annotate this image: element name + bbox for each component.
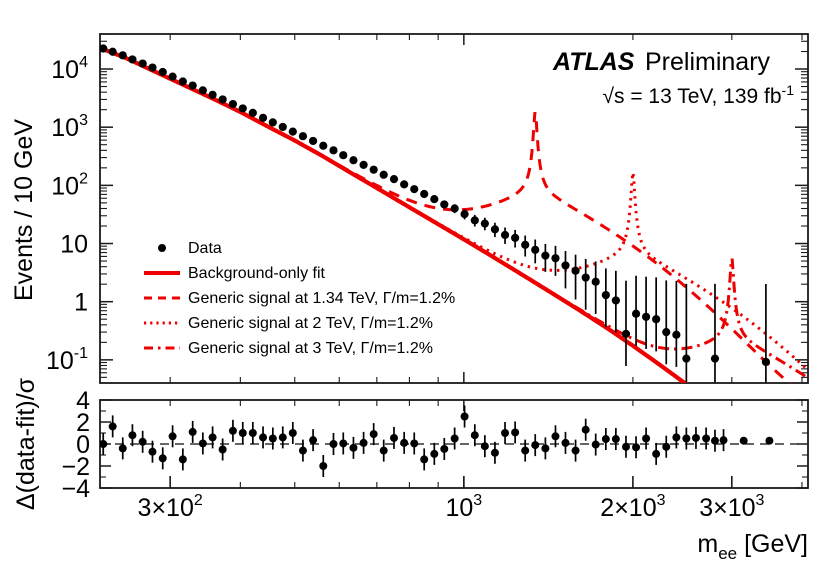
residual-point bbox=[390, 434, 398, 442]
residual-point bbox=[259, 433, 267, 441]
data-point bbox=[289, 127, 297, 135]
data-point bbox=[390, 175, 398, 183]
data-point bbox=[642, 313, 650, 321]
data-point bbox=[632, 310, 640, 318]
data-point bbox=[582, 273, 590, 281]
residual-point bbox=[209, 433, 217, 441]
data-point bbox=[571, 267, 579, 275]
data-point bbox=[672, 331, 680, 339]
residual-point bbox=[179, 455, 187, 463]
legend-item-3: Generic signal at 1.34 TeV, Γ/m=1.2% bbox=[144, 290, 455, 307]
residual-point bbox=[740, 437, 748, 445]
residual-point bbox=[109, 422, 117, 430]
residual-point bbox=[440, 445, 448, 453]
atlas-label: ATLAS bbox=[552, 48, 635, 76]
residual-point bbox=[319, 462, 327, 470]
residual-point bbox=[148, 448, 156, 456]
residual-point bbox=[169, 432, 177, 440]
residual-point bbox=[461, 413, 469, 421]
legend-label: Generic signal at 1.34 TeV, Γ/m=1.2% bbox=[188, 290, 455, 307]
data-point bbox=[561, 261, 569, 269]
data-point bbox=[309, 137, 317, 145]
residual-point bbox=[400, 439, 408, 447]
residual-point bbox=[119, 444, 127, 452]
data-point bbox=[531, 246, 539, 254]
residual-point bbox=[582, 426, 590, 434]
residual-point bbox=[531, 441, 539, 449]
residual-point bbox=[711, 437, 719, 445]
residual-point bbox=[139, 438, 147, 446]
residual-point bbox=[702, 435, 710, 443]
main-y-tick-labels: 10410310210110-1 bbox=[46, 54, 88, 375]
data-point bbox=[109, 48, 117, 56]
x-tick-label: 2×103 bbox=[600, 492, 665, 522]
data-point bbox=[269, 118, 277, 126]
residual-point bbox=[189, 428, 197, 436]
residual-point bbox=[682, 435, 690, 443]
residual-point bbox=[249, 429, 257, 437]
y-axis-title-main: Events / 10 GeV bbox=[10, 119, 38, 301]
residual-point bbox=[612, 435, 620, 443]
legend-marker-data bbox=[158, 244, 166, 252]
x-axis-title: mee [GeV] bbox=[697, 530, 808, 563]
data-point bbox=[370, 166, 378, 174]
legend-label: Generic signal at 2 TeV, Γ/m=1.2% bbox=[188, 315, 433, 332]
x-tick-labels: 3×1021032×1033×103 bbox=[138, 492, 765, 522]
residual-point bbox=[410, 439, 418, 447]
data-point bbox=[339, 151, 347, 159]
residuals-group bbox=[99, 406, 808, 478]
residual-point bbox=[360, 439, 368, 447]
residual-point bbox=[199, 439, 207, 447]
residual-point bbox=[380, 447, 388, 455]
data-point bbox=[662, 328, 670, 336]
residual-point bbox=[239, 429, 247, 437]
residual-point bbox=[309, 436, 317, 444]
data-point bbox=[349, 156, 357, 164]
data-point bbox=[319, 142, 327, 150]
ratio-x-major-ticks bbox=[170, 476, 732, 488]
data-point bbox=[471, 216, 479, 224]
residual-point bbox=[541, 444, 549, 452]
residual-point bbox=[521, 447, 529, 455]
data-point bbox=[99, 44, 107, 52]
legend-label: Data bbox=[188, 240, 222, 257]
data-point bbox=[612, 296, 620, 304]
residual-point bbox=[430, 450, 438, 458]
data-point bbox=[209, 91, 217, 99]
data-point bbox=[159, 68, 167, 76]
data-point bbox=[239, 104, 247, 112]
residual-point bbox=[642, 435, 650, 443]
residual-point bbox=[219, 446, 227, 454]
residual-point bbox=[339, 439, 347, 447]
y-axis-title-ratio: Δ(data-fit)/σ bbox=[12, 377, 40, 510]
data-point bbox=[430, 195, 438, 203]
legend-item-2: Background-only fit bbox=[144, 265, 326, 282]
data-point bbox=[279, 123, 287, 131]
data-point bbox=[652, 315, 660, 323]
residual-point bbox=[572, 447, 580, 455]
legend-item-4: Generic signal at 2 TeV, Γ/m=1.2% bbox=[144, 315, 433, 332]
y-tick-label: 1 bbox=[74, 289, 88, 317]
residual-point bbox=[672, 433, 680, 441]
residual-point bbox=[652, 450, 660, 458]
residual-point bbox=[329, 440, 337, 448]
data-point bbox=[219, 95, 227, 103]
data-point bbox=[139, 59, 147, 67]
residual-point bbox=[491, 449, 499, 457]
residual-point bbox=[692, 434, 700, 442]
residual-point bbox=[511, 428, 519, 436]
legend: DataBackground-only fitGeneric signal at… bbox=[144, 240, 455, 357]
legend-item-5: Generic signal at 3 TeV, Γ/m=1.2% bbox=[144, 340, 433, 357]
residual-point bbox=[551, 432, 559, 440]
residual-point bbox=[269, 435, 277, 443]
data-point bbox=[119, 51, 127, 59]
residual-point bbox=[481, 442, 489, 450]
data-point bbox=[541, 251, 549, 259]
data-point bbox=[299, 132, 307, 140]
data-point bbox=[410, 185, 418, 193]
residual-point bbox=[289, 429, 297, 437]
residual-point bbox=[349, 444, 357, 452]
legend-item-1: Data bbox=[158, 240, 222, 257]
data-point bbox=[762, 358, 770, 366]
y-tick-label: 103 bbox=[51, 112, 88, 142]
residual-point bbox=[622, 443, 630, 451]
residual-point bbox=[561, 439, 569, 447]
residual-point bbox=[159, 454, 167, 462]
residual-point bbox=[99, 440, 107, 448]
data-point bbox=[148, 63, 156, 71]
residual-point bbox=[765, 437, 773, 445]
data-point bbox=[521, 241, 529, 249]
data-point bbox=[491, 225, 499, 233]
data-point bbox=[451, 204, 459, 212]
data-point bbox=[622, 330, 630, 338]
residual-point bbox=[420, 455, 428, 463]
data-point bbox=[481, 220, 489, 228]
data-point bbox=[501, 231, 509, 239]
residual-point bbox=[602, 435, 610, 443]
data-point bbox=[440, 200, 448, 208]
y-tick-label: 10-1 bbox=[46, 345, 88, 375]
data-point bbox=[179, 77, 187, 85]
data-point bbox=[711, 355, 719, 363]
residual-point bbox=[592, 441, 600, 449]
ratio-y-tick-label: −4 bbox=[61, 475, 90, 503]
preliminary-label: Preliminary bbox=[645, 48, 771, 76]
residual-point bbox=[299, 447, 307, 455]
x-tick-label: 3×103 bbox=[699, 492, 764, 522]
residual-point bbox=[451, 435, 459, 443]
data-point bbox=[329, 146, 337, 154]
data-point bbox=[551, 254, 559, 262]
legend-label: Background-only fit bbox=[188, 265, 326, 282]
residual-point bbox=[632, 443, 640, 451]
y-tick-label: 102 bbox=[51, 170, 88, 200]
legend-label: Generic signal at 3 TeV, Γ/m=1.2% bbox=[188, 340, 433, 357]
data-point bbox=[359, 161, 367, 169]
data-point bbox=[128, 55, 136, 63]
data-point bbox=[420, 190, 428, 198]
residual-point bbox=[501, 429, 509, 437]
residual-point bbox=[128, 431, 136, 439]
data-point bbox=[259, 114, 267, 122]
data-point bbox=[199, 86, 207, 94]
physics-plot: 10410310210110-13×1021032×1033×103420−2−… bbox=[0, 0, 830, 563]
residual-point bbox=[720, 436, 728, 444]
data-point bbox=[168, 73, 176, 81]
data-point bbox=[229, 100, 237, 108]
data-point bbox=[602, 291, 610, 299]
residual-point bbox=[370, 430, 378, 438]
data-point bbox=[511, 234, 519, 242]
x-tick-label: 103 bbox=[445, 492, 482, 522]
data-point bbox=[189, 81, 197, 89]
data-point bbox=[400, 180, 408, 188]
y-tick-label: 104 bbox=[51, 54, 88, 84]
residual-point bbox=[662, 443, 670, 451]
data-point bbox=[592, 278, 600, 286]
data-point bbox=[249, 109, 257, 117]
y-tick-label: 10 bbox=[60, 231, 88, 259]
data-point bbox=[380, 171, 388, 179]
lumi-label: √s = 13 TeV, 139 fb-1 bbox=[602, 82, 794, 108]
residual-point bbox=[471, 431, 479, 439]
figure-root: 10410310210110-13×1021032×1033×103420−2−… bbox=[0, 0, 830, 563]
data-point bbox=[682, 355, 690, 363]
residual-point bbox=[229, 427, 237, 435]
x-tick-label: 3×102 bbox=[138, 492, 203, 522]
residual-point bbox=[279, 433, 287, 441]
data-point bbox=[460, 210, 468, 218]
